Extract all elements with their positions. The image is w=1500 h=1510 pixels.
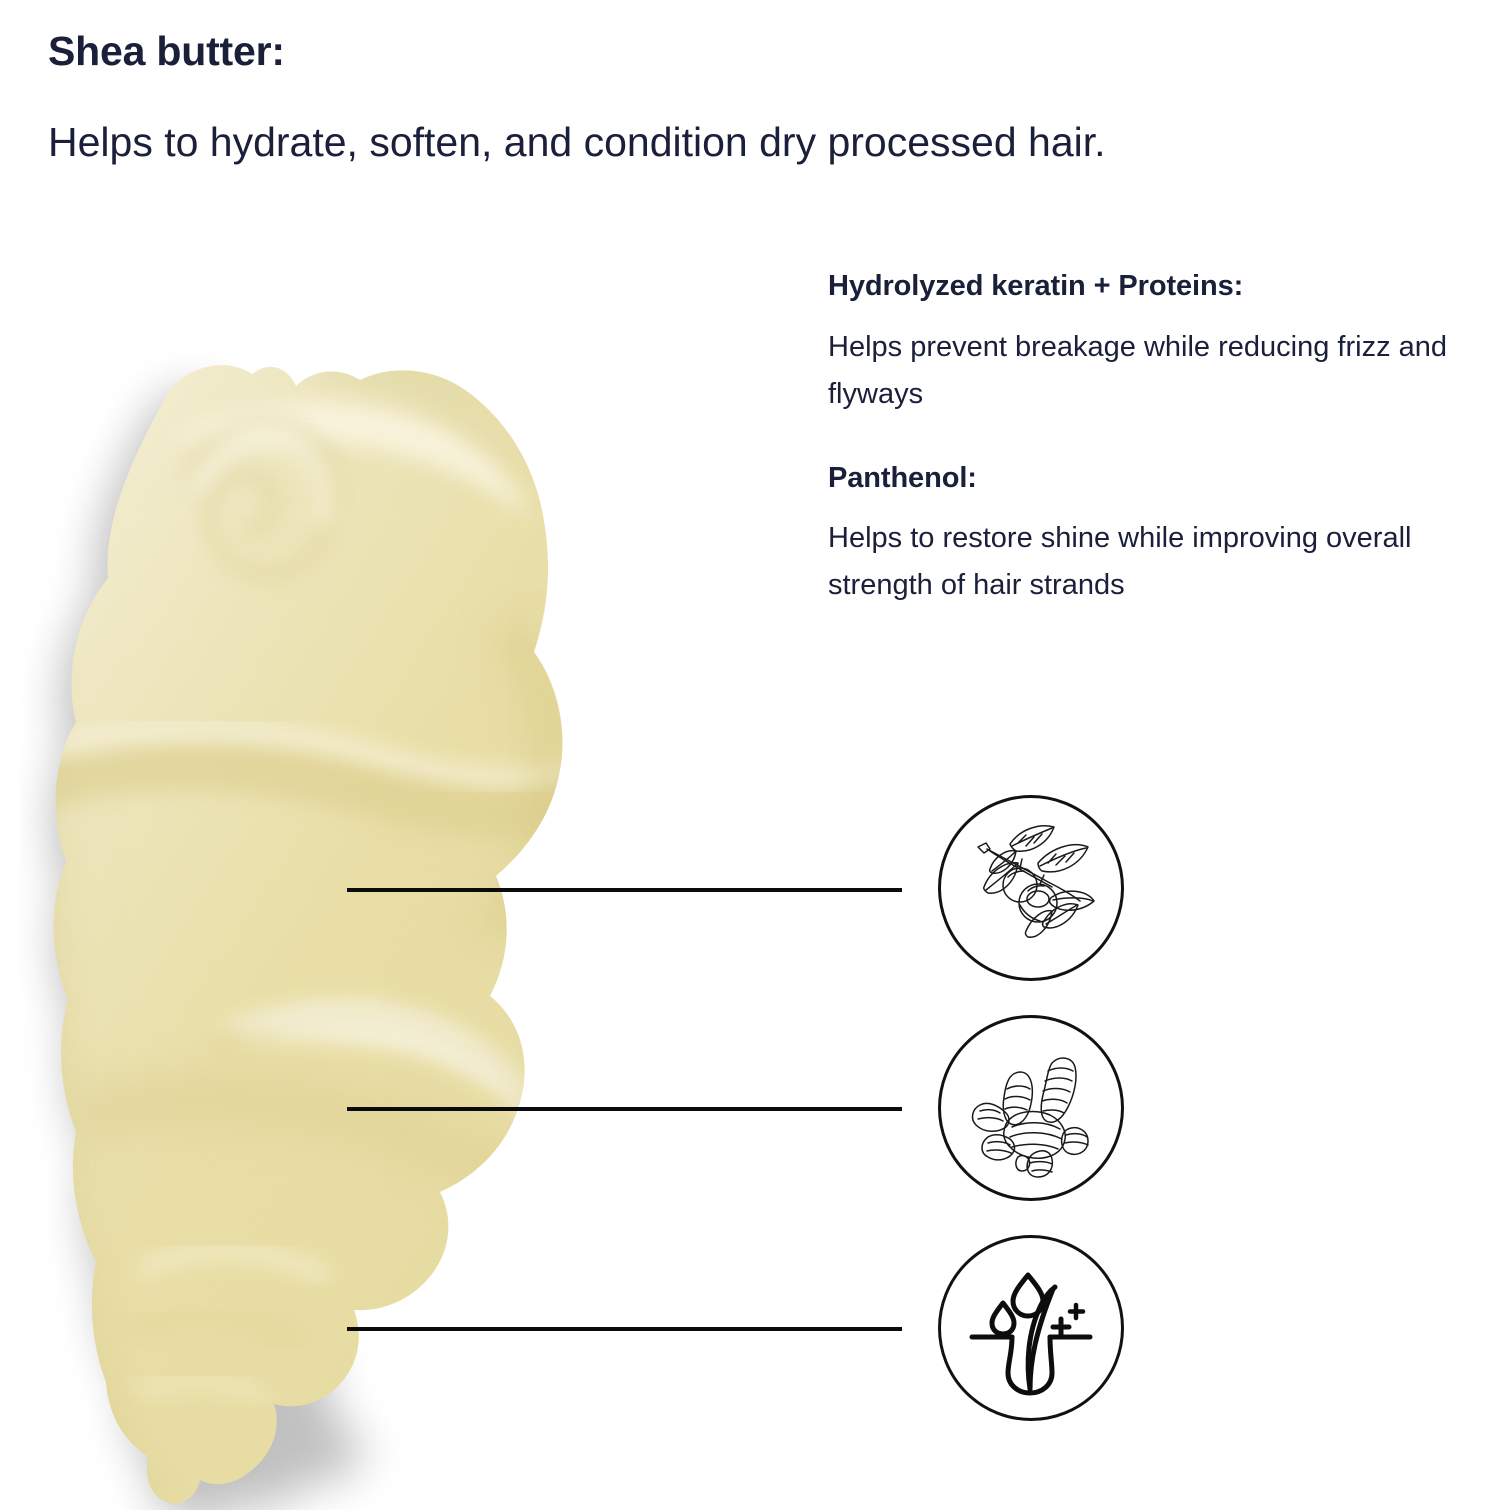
connector-line-follicle [347, 1327, 902, 1331]
ingredient-keratin: Hydrolyzed keratin + Proteins: Helps pre… [828, 268, 1448, 418]
ingredient-heading: Panthenol: [828, 460, 1448, 498]
ingredient-body: Helps prevent breakage while reducing fr… [828, 324, 1448, 418]
shea-butter-text-block: Shea butter: Helps to hydrate, soften, a… [48, 28, 1148, 176]
connector-line-ginger [347, 1107, 902, 1111]
connector-line-olive [347, 888, 902, 892]
ingredient-body: Helps to restore shine while improving o… [828, 515, 1448, 609]
shea-butter-description: Helps to hydrate, soften, and condition … [48, 109, 1138, 175]
infographic-canvas: Shea butter: Helps to hydrate, soften, a… [0, 0, 1500, 1500]
shea-butter-smear [20, 330, 680, 1510]
page-title: Shea butter: [48, 28, 1148, 75]
ingredient-panthenol: Panthenol: Helps to restore shine while … [828, 460, 1448, 610]
hair-follicle-hydration-icon [938, 1235, 1124, 1421]
olive-branch-icon [938, 795, 1124, 981]
ginger-root-icon [938, 1015, 1124, 1201]
ingredient-heading: Hydrolyzed keratin + Proteins: [828, 268, 1448, 306]
ingredient-text-block: Hydrolyzed keratin + Proteins: Helps pre… [828, 268, 1448, 609]
